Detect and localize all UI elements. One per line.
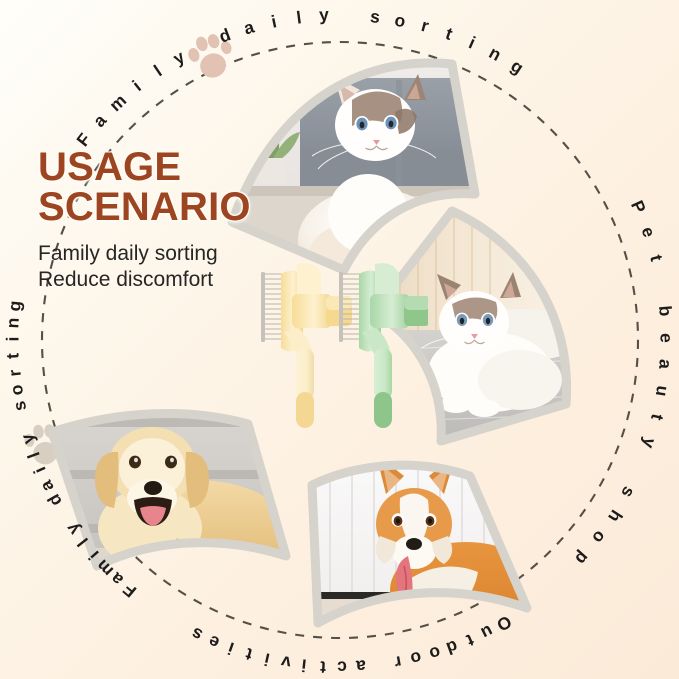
subtitle-line1: Family daily sorting <box>38 241 306 267</box>
segment-bottom-right[interactable] <box>300 450 542 646</box>
usage-scenario-graphic: USAGE SCENARIO Family daily sorting Redu… <box>0 0 679 679</box>
page-title-line2: SCENARIO <box>38 188 306 228</box>
headline-block: USAGE SCENARIO Family daily sorting Redu… <box>38 148 306 292</box>
page-title-line1: USAGE <box>38 148 306 188</box>
brush-green[interactable] <box>339 263 428 428</box>
subtitle-line2: Reduce discomfort <box>38 267 306 293</box>
